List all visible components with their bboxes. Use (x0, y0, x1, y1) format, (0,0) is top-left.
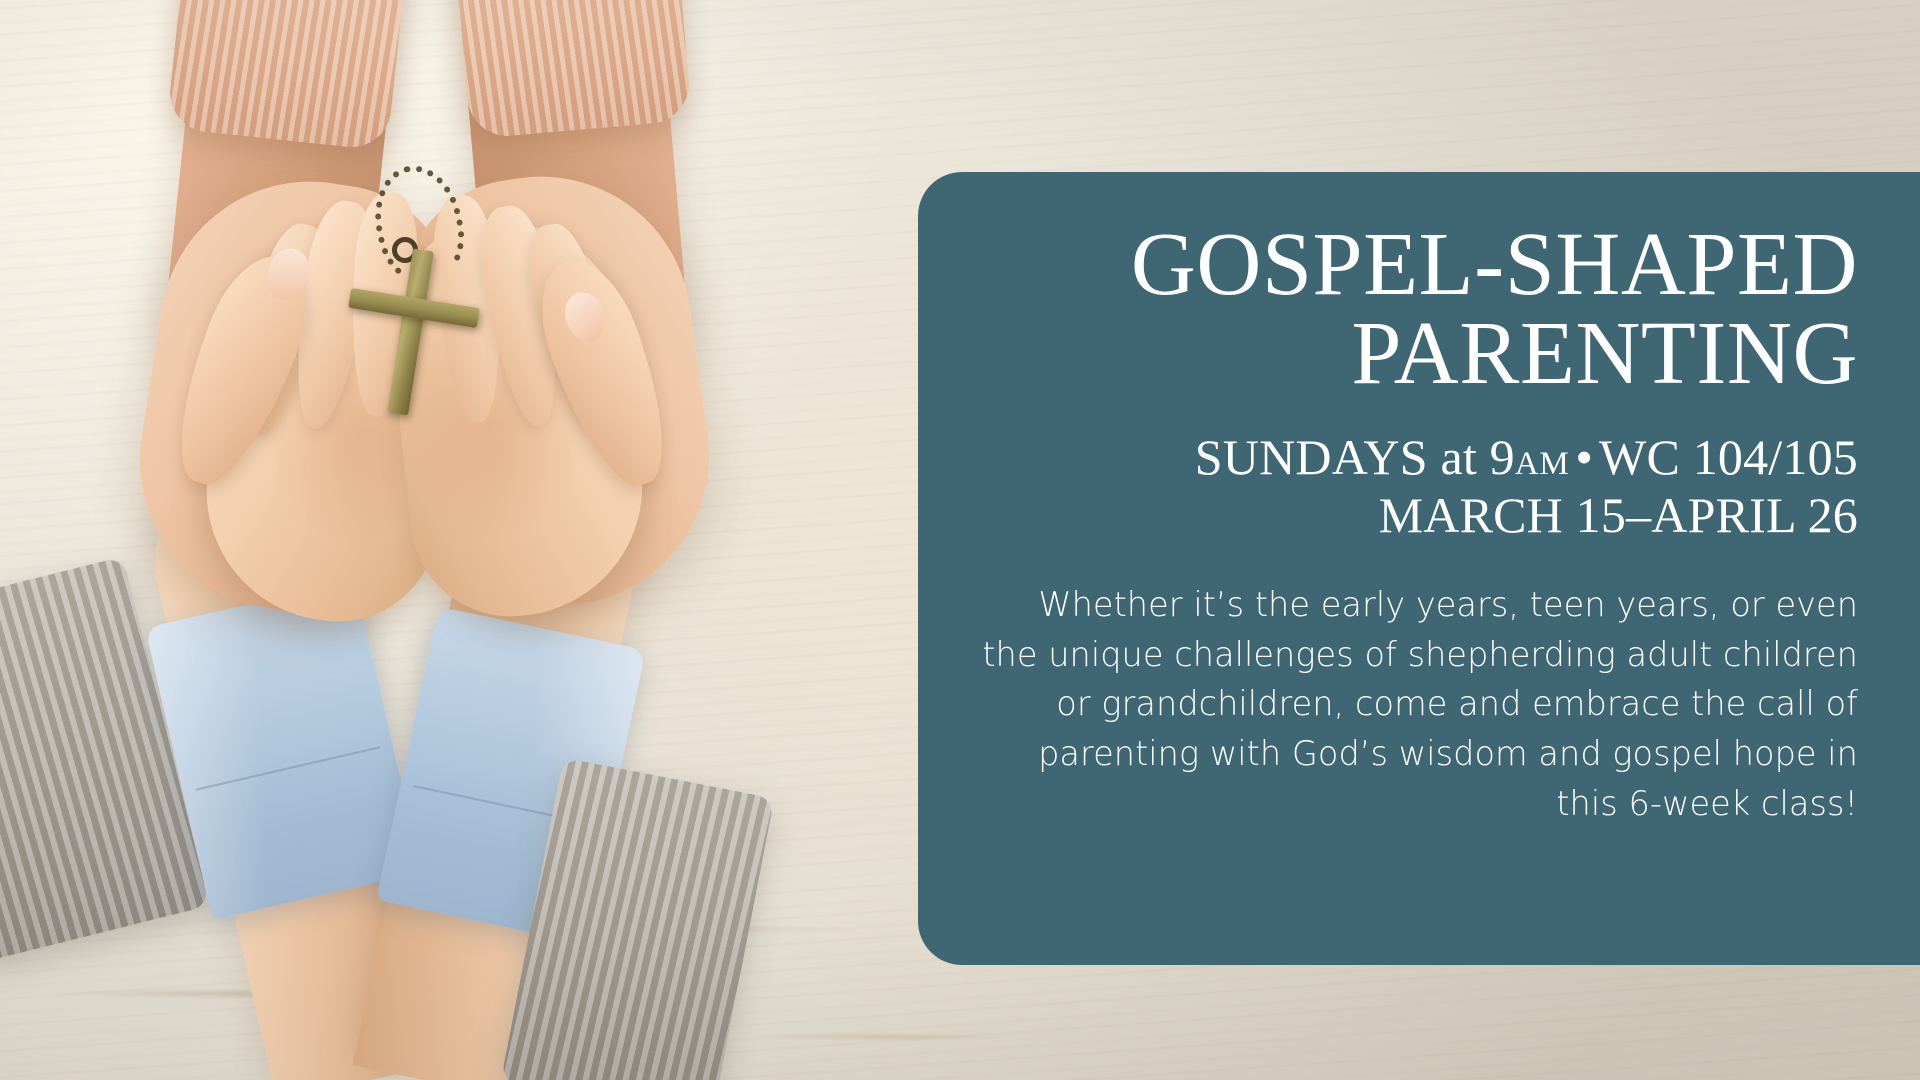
event-info-panel: GOSPEL-SHAPED PARENTING SUNDAYS at 9AM•W… (918, 172, 1920, 965)
event-date-range: MARCH 15–APRIL 26 (980, 486, 1858, 544)
cross-vertical-beam (387, 248, 434, 415)
event-title: GOSPEL-SHAPED PARENTING (980, 220, 1858, 398)
cross-pendant (330, 165, 510, 395)
event-title-line-2: PARENTING (980, 309, 1858, 398)
event-time-prefix: SUNDAYS at 9 (1195, 429, 1515, 485)
event-schedule-line: SUNDAYS at 9AM•WC 104/105 (980, 428, 1858, 486)
pink-knit-sweater-cuff-left (166, 0, 408, 151)
event-location: WC 104/105 (1599, 429, 1858, 485)
detail-separator-dot: • (1569, 429, 1599, 485)
event-title-line-1: GOSPEL-SHAPED (980, 220, 1858, 309)
promo-graphic: GOSPEL-SHAPED PARENTING SUNDAYS at 9AM•W… (0, 0, 1920, 1080)
event-time-ampm: AM (1515, 446, 1570, 482)
event-description: Whether it’s the early years, teen years… (980, 580, 1858, 828)
pink-knit-sweater-cuff-right (454, 0, 693, 139)
event-details: SUNDAYS at 9AM•WC 104/105 MARCH 15–APRIL… (980, 428, 1858, 544)
